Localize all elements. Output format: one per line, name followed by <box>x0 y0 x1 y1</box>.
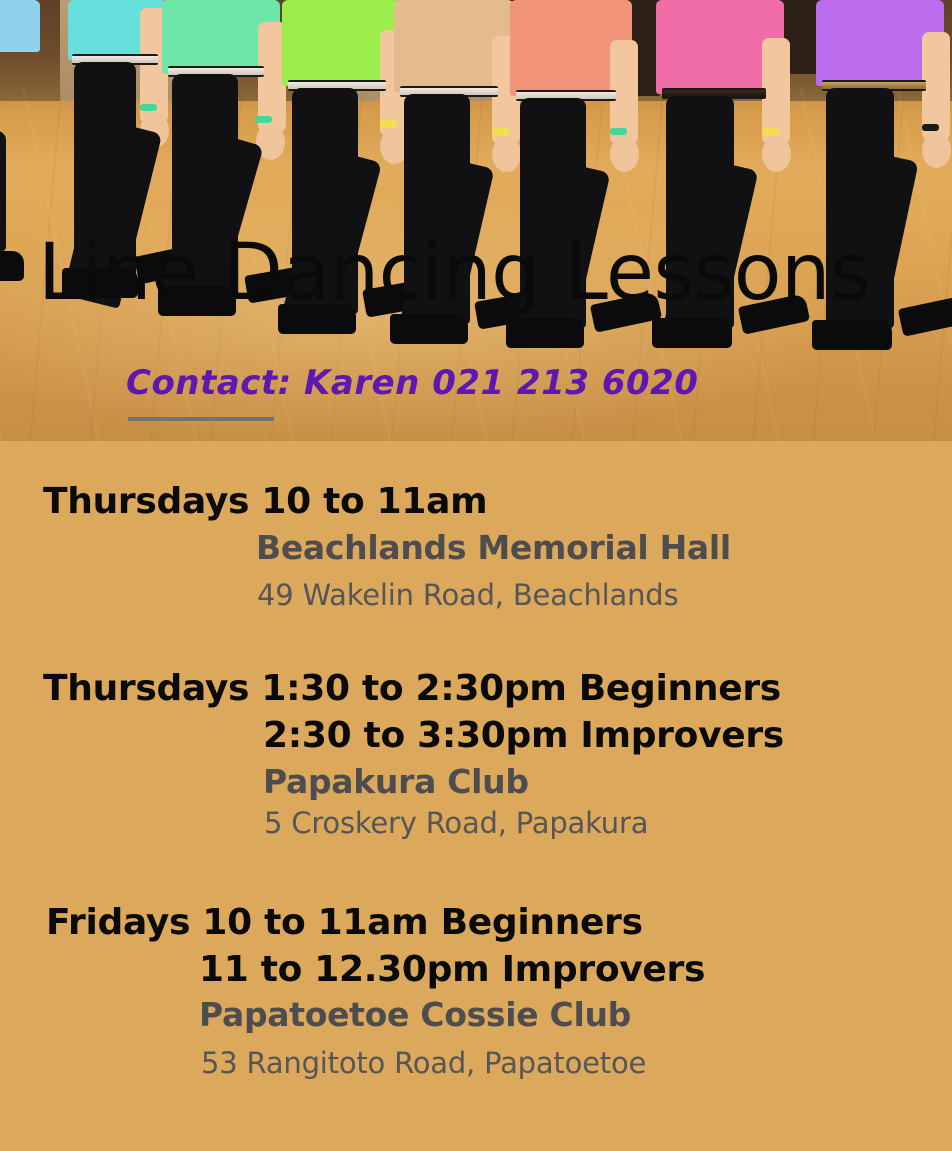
dancer-shoe <box>652 318 732 348</box>
contact-underline <box>128 417 274 421</box>
schedule-day-time-2: 11 to 12.30pm Improvers <box>199 952 705 988</box>
page-title: Line Dancing Lessons <box>38 234 870 312</box>
wrist-band <box>610 128 627 135</box>
schedule-day-time-2: 2:30 to 3:30pm Improvers <box>263 718 784 754</box>
dancer-leg <box>0 131 6 251</box>
schedule-venue: Papakura Club <box>263 765 529 798</box>
schedule-day-time: Thursdays 1:30 to 2:30pm Beginners <box>43 671 781 707</box>
schedule-venue: Beachlands Memorial Hall <box>256 531 731 564</box>
dancer-shoe <box>898 295 952 337</box>
schedule-day-time: Thursdays 10 to 11am <box>43 484 487 520</box>
contact-line[interactable]: Contact: Karen 021 213 6020 <box>126 363 698 403</box>
dancer-hand <box>922 132 951 168</box>
schedule-venue: Papatoetoe Cossie Club <box>199 998 631 1031</box>
dancer-shoe <box>812 320 892 350</box>
dancer-hand <box>610 136 639 172</box>
dancer-hand <box>762 136 791 172</box>
wrist-band <box>762 128 779 135</box>
dancer-shoe <box>0 251 24 281</box>
dancer-shoe <box>506 318 584 348</box>
dancer-figure <box>802 0 952 441</box>
wrist-band <box>922 124 939 131</box>
schedule-address: 5 Croskery Road, Papakura <box>264 809 648 838</box>
schedule-day-time: Fridays 10 to 11am Beginners <box>46 905 643 941</box>
flyer-poster: Line Dancing Lessons Contact: Karen 021 … <box>0 0 952 1151</box>
schedule-address: 49 Wakelin Road, Beachlands <box>257 581 678 610</box>
dancer-shoe <box>390 314 468 344</box>
schedule-address: 53 Rangitoto Road, Papatoetoe <box>201 1049 646 1078</box>
dancer-top <box>0 0 40 52</box>
